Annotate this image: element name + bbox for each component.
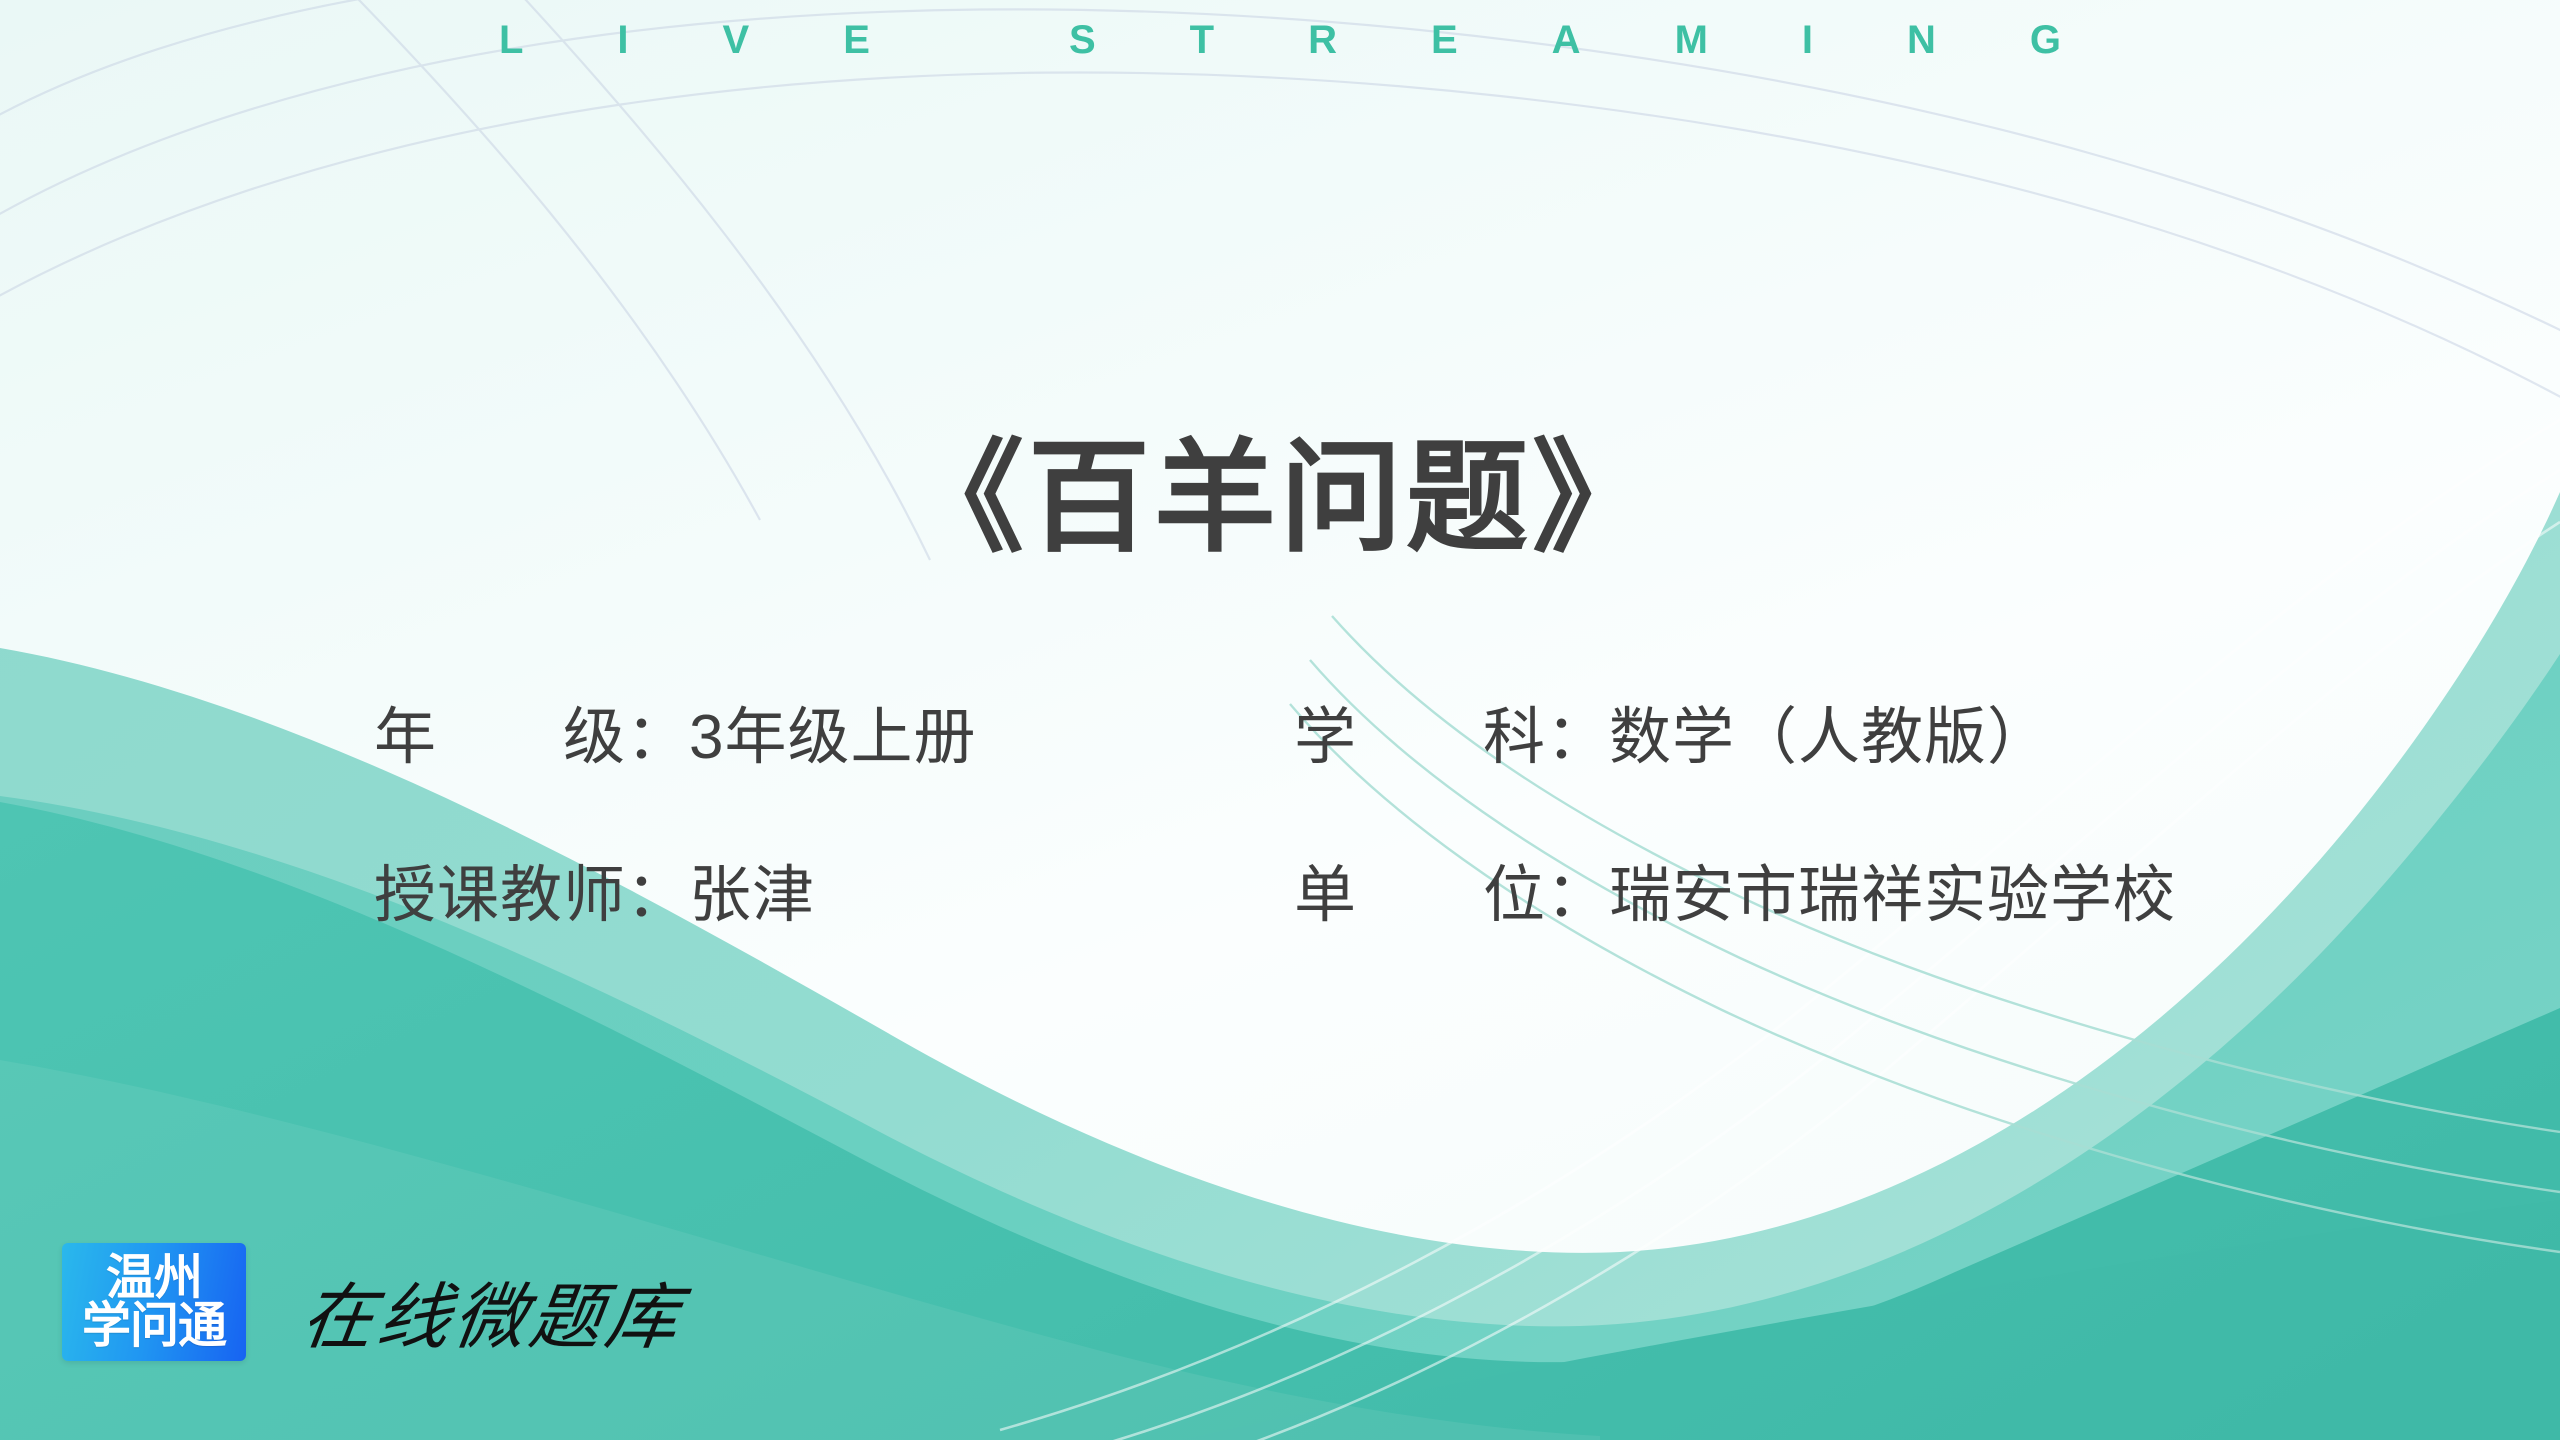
brush-script-svg: 在线微题库 — [310, 1262, 750, 1370]
presentation-slide: LIVE STREAMING 《百羊问题》 年 级：3年级上册 学 科：数学（人… — [0, 0, 2560, 1440]
page-title: 《百羊问题》 — [0, 434, 2560, 562]
brand-logo-line-2: 学问通 — [82, 1302, 226, 1350]
info-subject: 学 科：数学（人教版） — [1294, 686, 2274, 776]
info-row-grade-subject: 年 级：3年级上册 学 科：数学（人教版） — [374, 686, 2274, 782]
info-institution: 单 位：瑞安市瑞祥实验学校 — [1294, 844, 2274, 934]
eyebrow-live-streaming: LIVE STREAMING — [0, 18, 2560, 63]
brush-script-text: 在线微题库 — [310, 1278, 694, 1358]
brand-logo-line-1: 温州 — [106, 1254, 202, 1302]
info-grade: 年 级：3年级上册 — [374, 686, 1294, 776]
brand-logo: 温州 学问通 — [62, 1243, 246, 1361]
info-row-teacher-institution: 授课教师：张津 单 位：瑞安市瑞祥实验学校 — [374, 844, 2274, 940]
lesson-info-block: 年 级：3年级上册 学 科：数学（人教版） 授课教师：张津 单 位：瑞安市瑞祥实… — [374, 686, 2274, 1002]
info-teacher: 授课教师：张津 — [374, 844, 1294, 934]
brush-script-wordmark: 在线微题库 — [310, 1262, 750, 1370]
